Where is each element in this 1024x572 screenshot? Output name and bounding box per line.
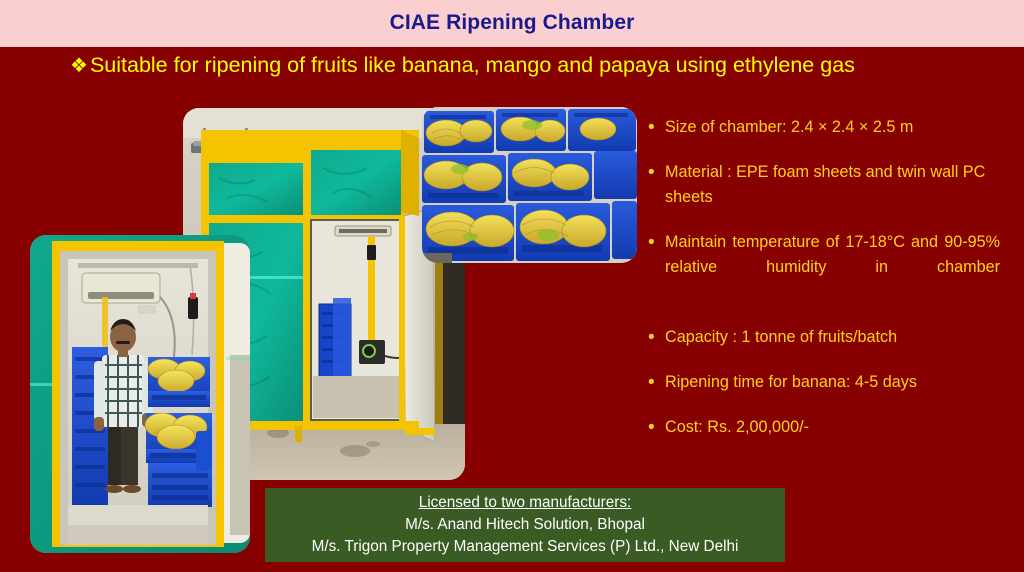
list-item: • Maintain temperature of 17-18°C and 90… xyxy=(645,230,1000,305)
subtitle-row: ❖ Suitable for ripening of fruits like b… xyxy=(70,54,970,78)
list-item: • Material : EPE foam sheets and twin wa… xyxy=(645,160,1000,210)
fact-text: Material : EPE foam sheets and twin wall… xyxy=(665,160,1000,210)
facts-list: • Size of chamber: 2.4 × 2.4 × 2.5 m • M… xyxy=(645,115,1000,460)
bullet-icon: • xyxy=(645,370,665,395)
bullet-icon: • xyxy=(645,115,665,140)
operator-inside-chamber-photo xyxy=(30,235,250,553)
list-item: • Cost: Rs. 2,00,000/- xyxy=(645,415,1000,440)
fact-text: Capacity : 1 tonne of fruits/batch xyxy=(665,325,1000,350)
licence-manufacturer-1: M/s. Anand Hitech Solution, Bhopal xyxy=(405,514,645,536)
licence-box: Licensed to two manufacturers: M/s. Anan… xyxy=(265,488,785,562)
licence-manufacturer-2: M/s. Trigon Property Management Services… xyxy=(312,536,739,558)
page-title: CIAE Ripening Chamber xyxy=(0,11,1024,35)
bullet-icon: • xyxy=(645,415,665,440)
banana-crates-photo xyxy=(422,107,637,263)
fact-text: Size of chamber: 2.4 × 2.4 × 2.5 m xyxy=(665,115,1000,140)
subtitle-text: Suitable for ripening of fruits like ban… xyxy=(90,54,855,78)
diamond-bullet-icon: ❖ xyxy=(70,56,88,76)
licence-heading: Licensed to two manufacturers: xyxy=(419,492,632,514)
fact-text: Ripening time for banana: 4-5 days xyxy=(665,370,1000,395)
fact-text: Maintain temperature of 17-18°C and 90-9… xyxy=(665,230,1000,305)
list-item: • Size of chamber: 2.4 × 2.4 × 2.5 m xyxy=(645,115,1000,140)
slide-canvas: CIAE Ripening Chamber ❖ Suitable for rip… xyxy=(0,0,1024,572)
list-item: • Capacity : 1 tonne of fruits/batch xyxy=(645,325,1000,350)
bullet-icon: • xyxy=(645,230,665,255)
list-item: • Ripening time for banana: 4-5 days xyxy=(645,370,1000,395)
bullet-icon: • xyxy=(645,160,665,185)
fact-text: Cost: Rs. 2,00,000/- xyxy=(665,415,1000,440)
bullet-icon: • xyxy=(645,325,665,350)
